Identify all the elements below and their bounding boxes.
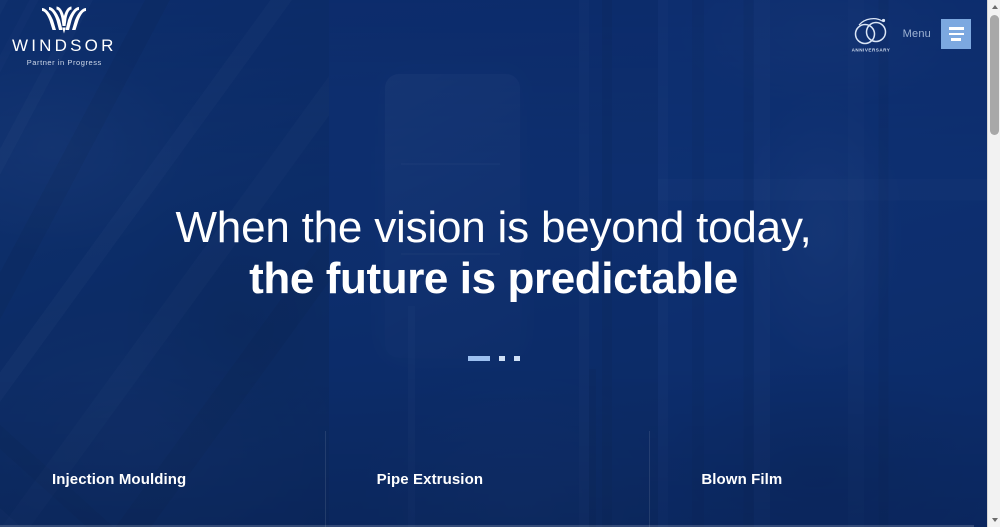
carousel-dot-1[interactable] [468, 356, 490, 361]
menu-label: Menu [903, 28, 931, 40]
headline-line-2: the future is predictable [40, 254, 947, 303]
headline-line-1: When the vision is beyond today, [40, 205, 947, 252]
carousel-dot-2[interactable] [499, 356, 505, 361]
brand-name: WINDSOR [12, 37, 117, 54]
scroll-down-arrow-icon[interactable] [988, 513, 1000, 527]
carousel-pagination [0, 356, 987, 361]
category-pipe-extrusion[interactable]: Pipe Extrusion [325, 431, 650, 527]
category-injection-moulding[interactable]: Injection Moulding [0, 431, 325, 527]
hamburger-line [951, 38, 961, 41]
browser-viewport: WINDSOR Partner in Progress ANNIVERSARY … [0, 0, 1000, 527]
brand-tagline: Partner in Progress [27, 58, 102, 67]
category-label: Injection Moulding [52, 471, 186, 488]
category-label: Blown Film [701, 471, 782, 488]
category-strip: Injection Moulding Pipe Extrusion Blown … [0, 431, 974, 527]
hamburger-icon[interactable] [941, 19, 971, 49]
scrollbar-thumb[interactable] [990, 15, 999, 135]
site-header: WINDSOR Partner in Progress ANNIVERSARY … [0, 0, 987, 72]
windsor-w-icon [34, 6, 94, 34]
category-label: Pipe Extrusion [377, 471, 483, 488]
hamburger-line [949, 27, 964, 30]
carousel-dot-3[interactable] [514, 356, 520, 361]
page-scrollbar[interactable] [987, 0, 1000, 527]
svg-text:ANNIVERSARY: ANNIVERSARY [851, 48, 890, 53]
hero-banner: WINDSOR Partner in Progress ANNIVERSARY … [0, 0, 987, 527]
category-blown-film[interactable]: Blown Film [649, 431, 974, 527]
header-actions: ANNIVERSARY Menu [849, 12, 971, 56]
anniversary-badge-icon[interactable]: ANNIVERSARY [849, 12, 893, 56]
hamburger-line [949, 33, 964, 36]
brand-logo[interactable]: WINDSOR Partner in Progress [12, 6, 117, 67]
hero-headline-block: When the vision is beyond today, the fut… [0, 205, 987, 303]
scroll-up-arrow-icon[interactable] [988, 0, 1000, 14]
